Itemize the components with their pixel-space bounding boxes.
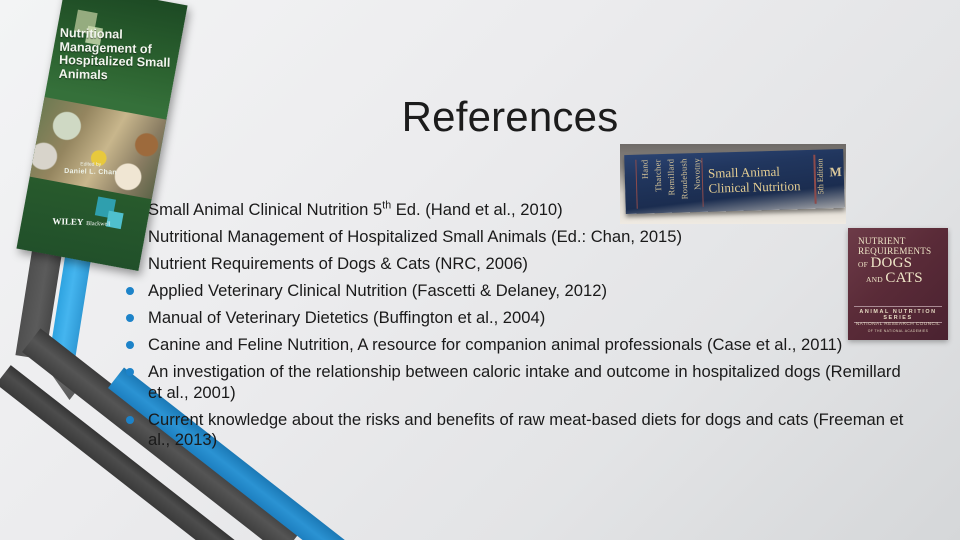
spine-rule: [635, 159, 638, 209]
bullet-dot-icon: [126, 368, 134, 376]
nrc-organization: NATIONAL RESEARCH COUNCIL OF THE NATIONA…: [854, 322, 942, 334]
reference-text: An investigation of the relationship bet…: [148, 362, 901, 402]
nrc-title-line-3: OF DOGS: [858, 256, 942, 271]
nrc-and: AND: [866, 275, 883, 284]
reference-text: Nutrient Requirements of Dogs & Cats (NR…: [148, 254, 528, 273]
list-item: Current knowledge about the risks and be…: [122, 410, 918, 451]
edited-by-label: Edited by: [80, 162, 101, 169]
list-item: Nutrient Requirements of Dogs & Cats (NR…: [122, 254, 912, 275]
spine-title-line-2: Clinical Nutrition: [708, 179, 800, 196]
spine-title: Small Animal Clinical Nutrition: [707, 164, 800, 196]
nrc-org-name: NATIONAL RESEARCH COUNCIL: [856, 322, 940, 327]
nrc-cover-title: NUTRIENT REQUIREMENTS OF DOGS AND CATS: [858, 237, 942, 286]
reference-text: Applied Veterinary Clinical Nutrition (F…: [148, 281, 607, 300]
reference-text: Manual of Veterinary Dietetics (Buffingt…: [148, 308, 545, 327]
list-item: An investigation of the relationship bet…: [122, 362, 908, 403]
reference-text: Nutritional Management of Hospitalized S…: [148, 227, 682, 246]
reference-text: Canine and Feline Nutrition, A resource …: [148, 335, 842, 354]
reference-text: Current knowledge about the risks and be…: [148, 410, 903, 450]
bullet-dot-icon: [126, 341, 134, 349]
spine-edition: 5th Edition: [814, 159, 824, 195]
book-spine: Hand Thatcher Remillard Roudebush Novotn…: [624, 149, 845, 214]
list-item: Canine and Feline Nutrition, A resource …: [122, 335, 908, 356]
bullet-dot-icon: [126, 287, 134, 295]
nrc-org-sub: OF THE NATIONAL ACADEMIES: [854, 328, 942, 334]
book-cover-editor: Edited by Daniel L. Chan: [47, 161, 134, 177]
book-cover-nutrient-requirements: NUTRIENT REQUIREMENTS OF DOGS AND CATS A…: [848, 228, 948, 340]
page-title: References: [300, 93, 720, 141]
ordinal-suffix: th: [382, 199, 391, 211]
reference-text: Small Animal Clinical Nutrition 5: [148, 200, 382, 219]
publisher-imprint: Blackwell: [87, 221, 111, 228]
publisher-name: WILEY: [53, 216, 84, 227]
spine-author: Remillard: [665, 159, 676, 196]
book-cover-title: Nutritional Management of Hospitalized S…: [59, 27, 174, 84]
nrc-title-line-4: AND CATS: [858, 271, 942, 286]
nrc-cats: CATS: [885, 270, 922, 286]
book-spine-photo-small-animal-clinical-nutrition: Hand Thatcher Remillard Roudebush Novotn…: [620, 144, 846, 224]
list-item: Nutritional Management of Hospitalized S…: [122, 227, 912, 248]
bullet-dot-icon: [126, 314, 134, 322]
nrc-of: OF: [858, 260, 868, 269]
spine-author: Roudebush: [678, 159, 689, 200]
spine-publisher-mark: M: [829, 164, 842, 180]
book-cover-food-photo: [30, 97, 167, 199]
slide-canvas: References Small Animal Clinical Nutriti…: [0, 0, 960, 540]
list-item: Applied Veterinary Clinical Nutrition (F…: [122, 281, 912, 302]
reference-text-tail: Ed. (Hand et al., 2010): [391, 200, 563, 219]
list-item: Manual of Veterinary Dietetics (Buffingt…: [122, 308, 912, 329]
bullet-dot-icon: [126, 416, 134, 424]
nrc-dogs: DOGS: [871, 255, 913, 271]
references-list: Small Animal Clinical Nutrition 5th Ed. …: [122, 200, 912, 457]
nrc-series-label: ANIMAL NUTRITION SERIES: [854, 306, 942, 323]
spine-author: Hand: [639, 160, 650, 180]
book-cover-publisher: WILEY Blackwell: [35, 215, 129, 227]
spine-authors: Hand Thatcher Remillard Roudebush Novotn…: [639, 158, 702, 208]
spine-author: Thatcher: [652, 159, 663, 192]
